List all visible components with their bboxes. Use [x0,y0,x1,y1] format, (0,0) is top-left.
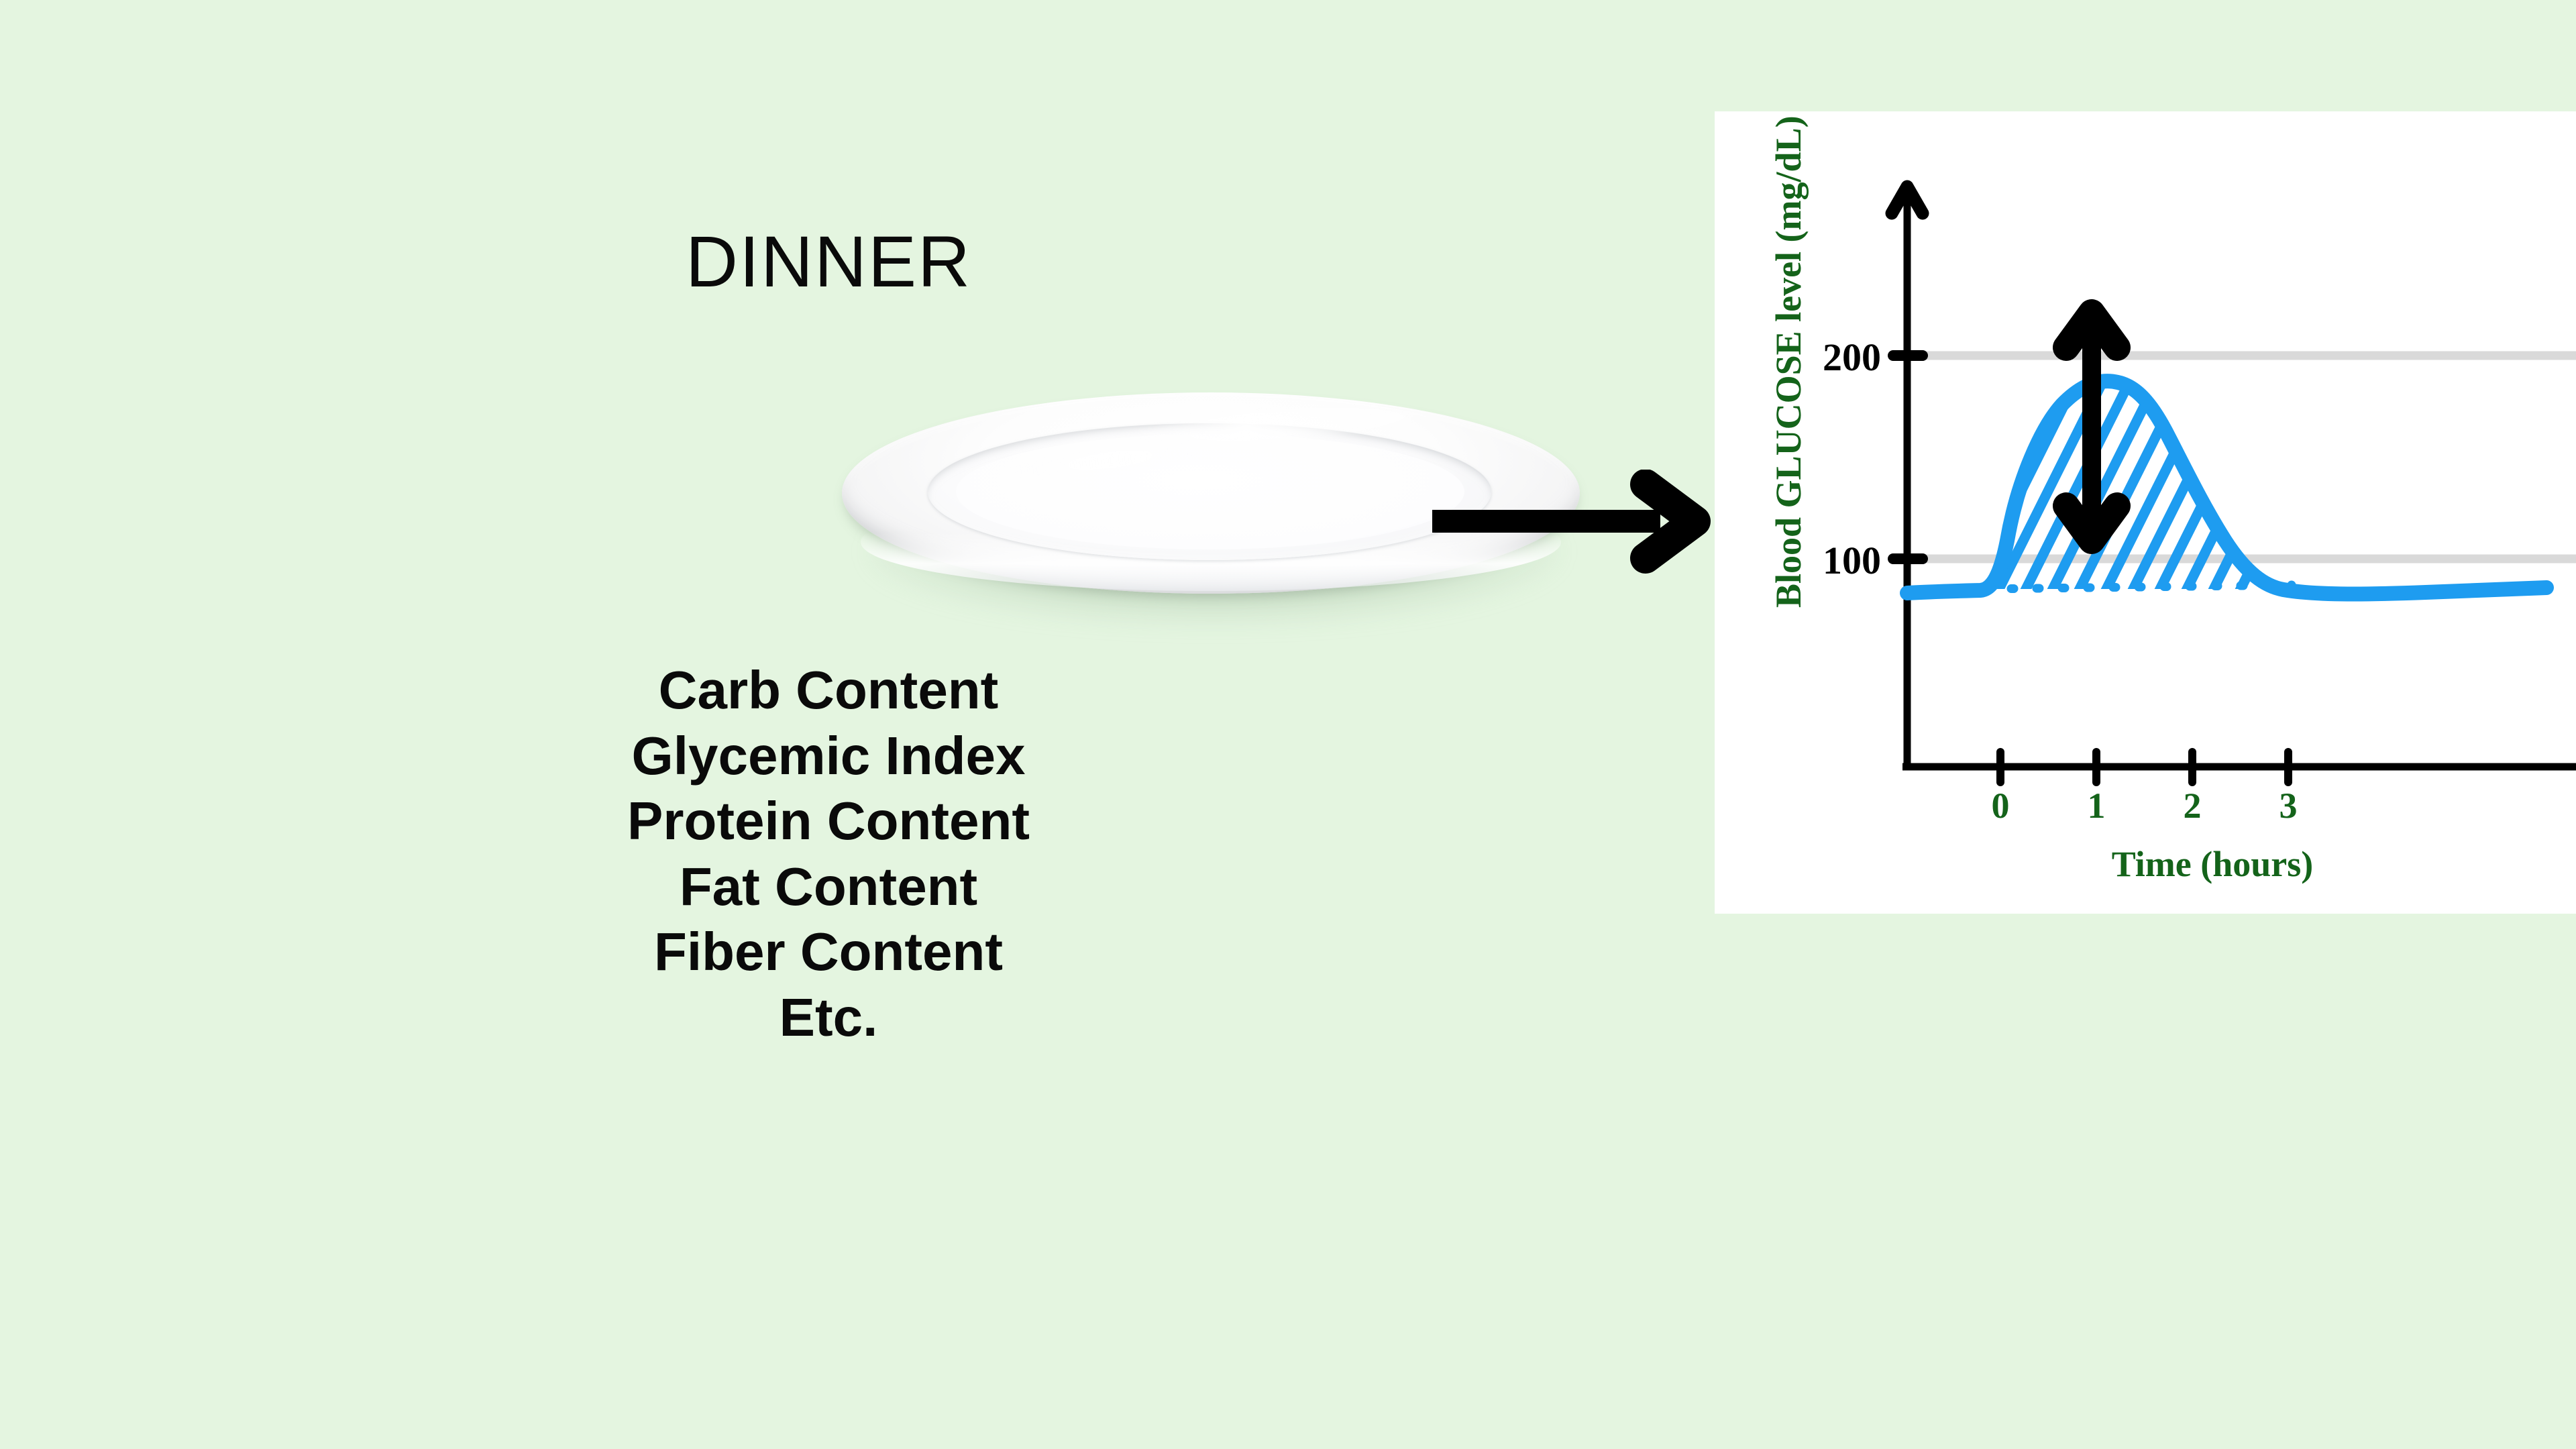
page-title: DINNER [0,225,1657,298]
right-arrow-icon [1432,470,1727,577]
plate-well-inner [956,434,1464,549]
x-tick-label-1: 1 [2088,786,2106,826]
list-item: Etc. [0,985,1657,1051]
meal-attribute-list: Carb Content Glycemic Index Protein Cont… [0,657,1657,1051]
y-tick-label-200: 200 [1823,335,1881,379]
x-tick-label-2: 2 [2184,786,2202,826]
glucose-chart-panel: 200 100 Blood GLUCOSE level (mg/dL) 0 1 … [1715,111,2576,914]
list-item: Glycemic Index [0,723,1657,789]
x-axis-label: Time (hours) [2112,844,2314,884]
list-item: Carb Content [0,657,1657,723]
y-tick-label-100: 100 [1823,539,1881,582]
x-tick-label-3: 3 [2279,786,2298,826]
list-item: Fiber Content [0,919,1657,985]
list-item: Fat Content [0,854,1657,920]
y-axis-label: Blood GLUCOSE level (mg/dL) [1768,115,1809,608]
list-item: Protein Content [0,788,1657,854]
x-tick-label-0: 0 [1992,786,2010,826]
